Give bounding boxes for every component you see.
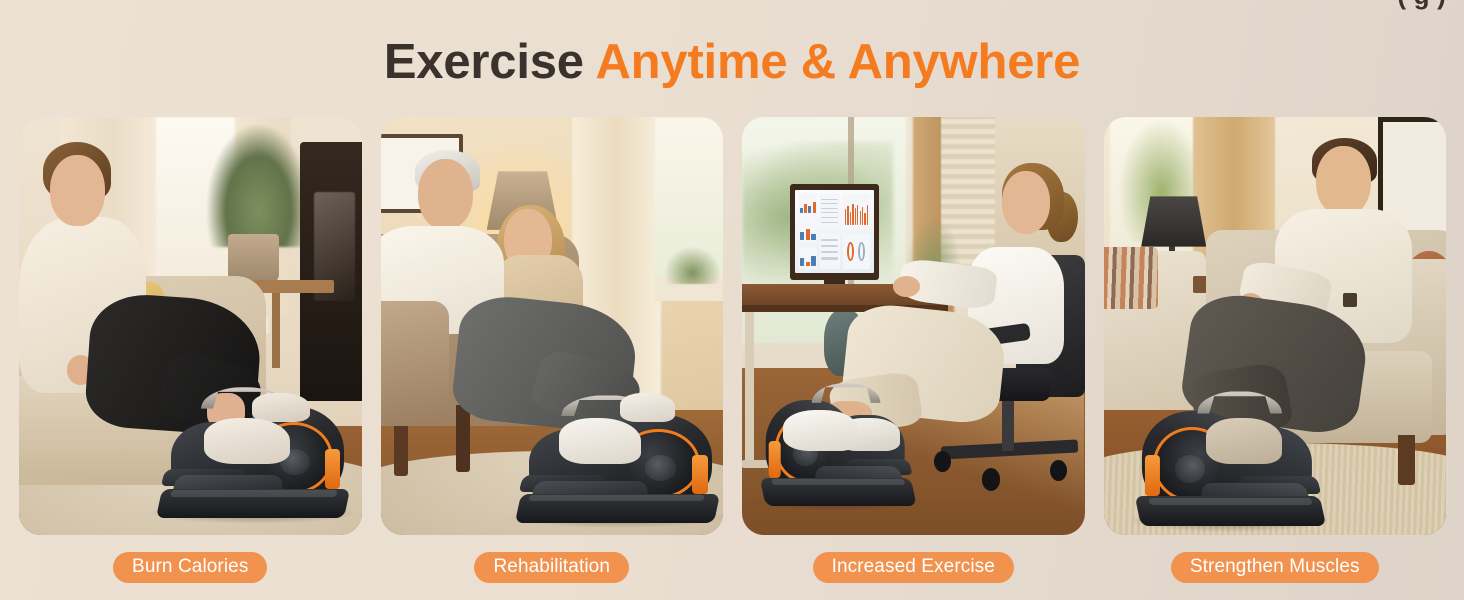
dashboard-chart-left-1	[799, 194, 817, 215]
cut-off-top-text: ( g )	[1397, 0, 1446, 11]
dashboard-gauges	[843, 234, 870, 268]
analytics-dashboard	[795, 190, 874, 274]
dashboard-text-block	[820, 194, 840, 228]
page-title: Exercise Anytime & Anywhere	[0, 34, 1464, 90]
monitor-screen	[795, 190, 874, 274]
photo-living-room-couple	[381, 117, 724, 535]
feature-panel-increased-exercise[interactable]	[742, 117, 1085, 535]
badge-rehabilitation[interactable]: Rehabilitation	[474, 552, 629, 583]
page-title-dark-part: Exercise	[384, 35, 584, 89]
caption-cell-2: Rehabilitation	[381, 551, 724, 583]
dashboard-chart-right-bars	[843, 194, 870, 228]
caption-cell-3: Increased Exercise	[742, 551, 1085, 583]
page-title-accent-part: Anytime & Anywhere	[595, 35, 1080, 89]
dashboard-chart-left-3	[799, 248, 817, 269]
photo-living-room-woman	[19, 117, 362, 535]
photo-living-room-man	[1104, 117, 1447, 535]
badge-burn-calories[interactable]: Burn Calories	[113, 552, 267, 583]
feature-panel-burn-calories[interactable]	[19, 117, 362, 535]
dashboard-chart-left-2	[799, 221, 817, 242]
feature-panel-strengthen-muscles[interactable]	[1104, 117, 1447, 535]
caption-badge-row: Burn Calories Rehabilitation Increased E…	[19, 551, 1446, 583]
badge-increased-exercise[interactable]: Increased Exercise	[813, 552, 1014, 583]
dashboard-text-block-2	[820, 234, 840, 268]
badge-strengthen-muscles[interactable]: Strengthen Muscles	[1171, 552, 1379, 583]
photo-office-desk-woman	[742, 117, 1085, 535]
caption-cell-1: Burn Calories	[19, 551, 362, 583]
feature-panel-row	[19, 117, 1446, 535]
caption-cell-4: Strengthen Muscles	[1104, 551, 1447, 583]
feature-panel-rehabilitation[interactable]	[381, 117, 724, 535]
